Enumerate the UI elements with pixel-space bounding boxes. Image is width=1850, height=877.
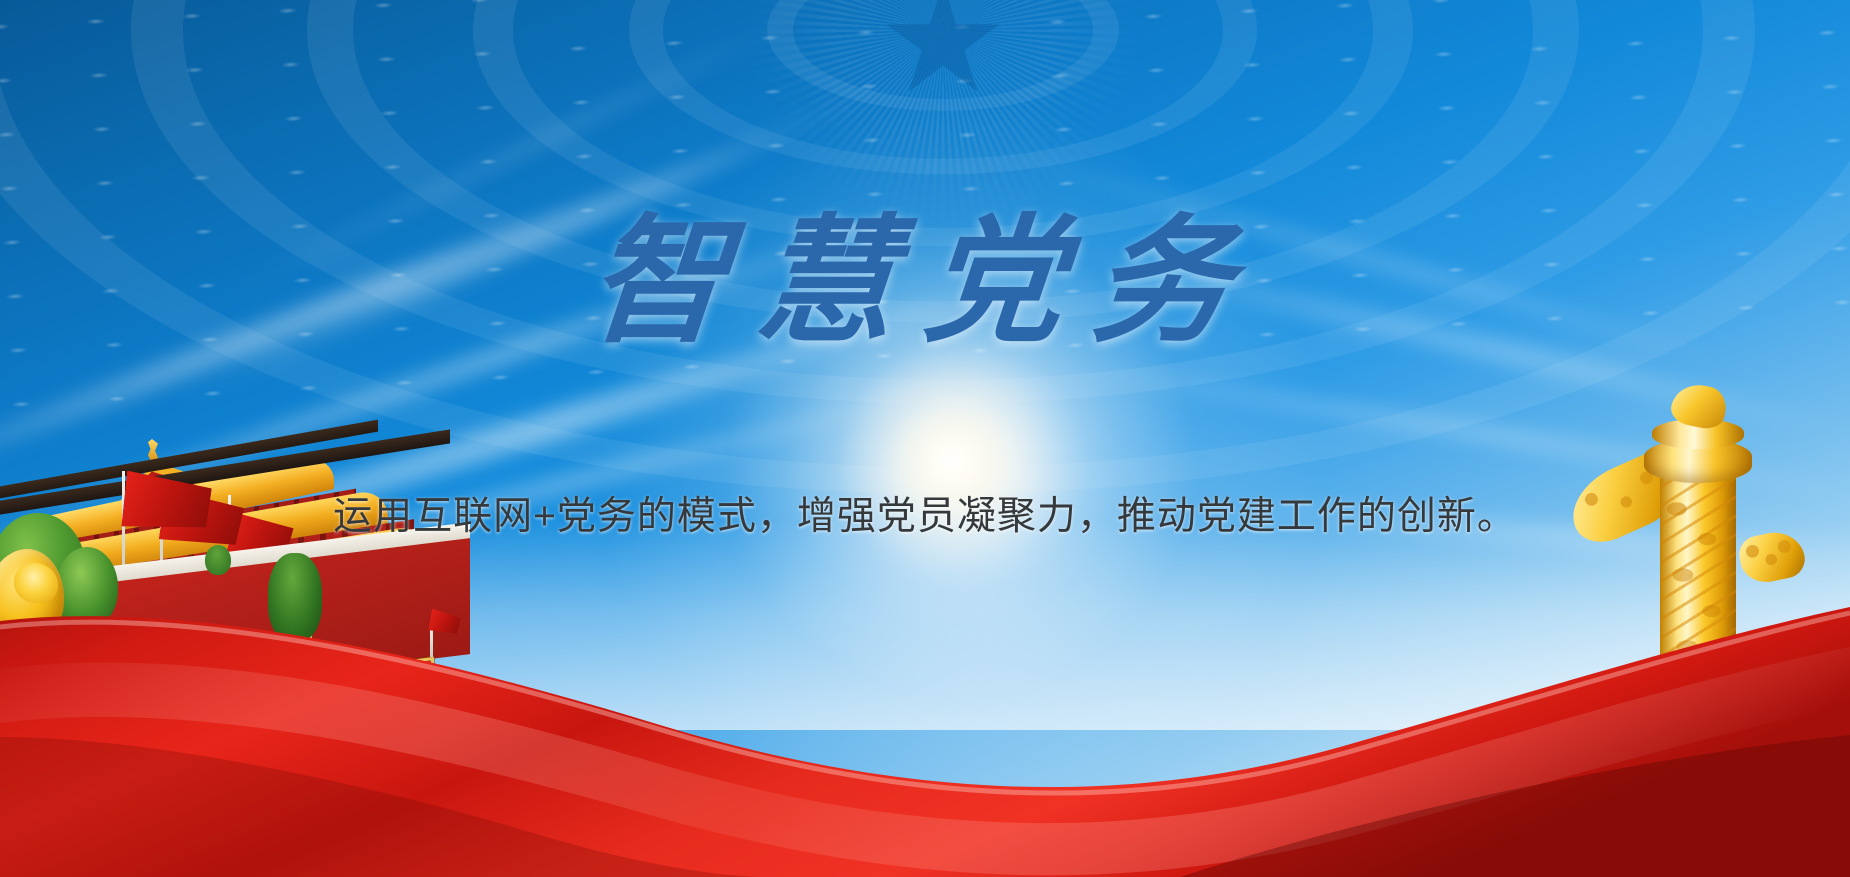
- tree: [205, 545, 231, 575]
- ripple-ring-4: [307, 0, 1579, 323]
- huabiao-cap: [1644, 439, 1752, 483]
- cloud-streak: [993, 143, 1748, 375]
- red-flag: [121, 471, 212, 536]
- roof-tier-mid: [10, 488, 388, 591]
- cloud-streaks: [0, 0, 1850, 877]
- huabiao-shaft: [1660, 467, 1736, 767]
- flag-pole: [160, 481, 163, 587]
- ripple-ring-3: [473, 0, 1413, 246]
- cloud-streak: [1024, 351, 1850, 505]
- red-silk-ribbon: [0, 577, 1850, 877]
- cloud-streak: [1058, 238, 1850, 446]
- huabiao-ornamental-column: [1568, 387, 1798, 767]
- five-pointed-star-icon: [884, 0, 1002, 101]
- cloud-streak: [193, 0, 827, 315]
- golden-lion-statue: [0, 549, 64, 641]
- roof-gable-inner: [104, 456, 204, 517]
- roof-gable-ornament: [117, 469, 187, 512]
- tree: [268, 553, 322, 641]
- cloud-streak: [0, 275, 1001, 619]
- page-title: 智慧党务: [0, 212, 1850, 350]
- red-flag: [428, 609, 461, 636]
- flag-pole: [430, 623, 433, 657]
- tiananmen-gate: 中华人民共和国万岁 世界人民大团结万岁: [0, 453, 460, 753]
- national-emblem-portrait: [313, 645, 341, 692]
- huabiao-cap-upper: [1652, 419, 1744, 449]
- huabiao-beast-finial: [1668, 380, 1730, 432]
- cloud-streak: [1180, 490, 1850, 577]
- flag-pole: [228, 495, 231, 593]
- ripple-ring-6: [0, 0, 1850, 494]
- marble-ledge: [0, 522, 470, 605]
- roof-tier-lower: [0, 523, 430, 634]
- huabiao-cloud-wing-right: [1736, 527, 1809, 587]
- eave-mid: [0, 420, 378, 499]
- cloud-streak: [0, 122, 791, 505]
- red-flag: [227, 510, 295, 561]
- horizon-haze: [0, 520, 1850, 730]
- sun-glow: [572, 82, 1332, 842]
- red-flag: [159, 488, 245, 551]
- pavilion-body-lower: [12, 519, 414, 617]
- golden-lion-statue-head: [14, 563, 58, 603]
- tree: [56, 547, 118, 627]
- ripple-ring-1: [767, 0, 1119, 111]
- huabiao-cloud-wing-left: [1560, 444, 1695, 552]
- banner-slogan-right: 世界人民大团结万岁: [340, 657, 434, 699]
- cloud-streak: [52, 370, 988, 620]
- banner-slogan-left: 中华人民共和国万岁: [186, 635, 312, 684]
- cloud-streak: [152, 70, 908, 418]
- eave-lower: [0, 429, 450, 514]
- roof-gable: [94, 442, 223, 523]
- roof-finial-icon: [148, 439, 158, 465]
- radial-rays: [393, 0, 1493, 580]
- balcony-railing: [192, 585, 422, 629]
- ripple-ring-5: [131, 0, 1755, 404]
- flag-pole: [122, 471, 125, 581]
- ripple-ring-2: [629, 0, 1257, 174]
- page-subtitle: 运用互联网+党务的模式，增强党员凝聚力，推动党建工作的创新。: [0, 494, 1850, 541]
- tree: [0, 513, 86, 625]
- gate-red-wall: [0, 538, 470, 713]
- sky-dash-texture: [0, 0, 1850, 458]
- roof-tier-top: [34, 455, 334, 553]
- pavilion-body-mid: [34, 489, 356, 574]
- cloud-streak: [0, 191, 953, 568]
- hero-banner: 中华人民共和国万岁 世界人民大团结万岁 智慧党务 运用互联网+党务的模式，增强党…: [0, 0, 1850, 877]
